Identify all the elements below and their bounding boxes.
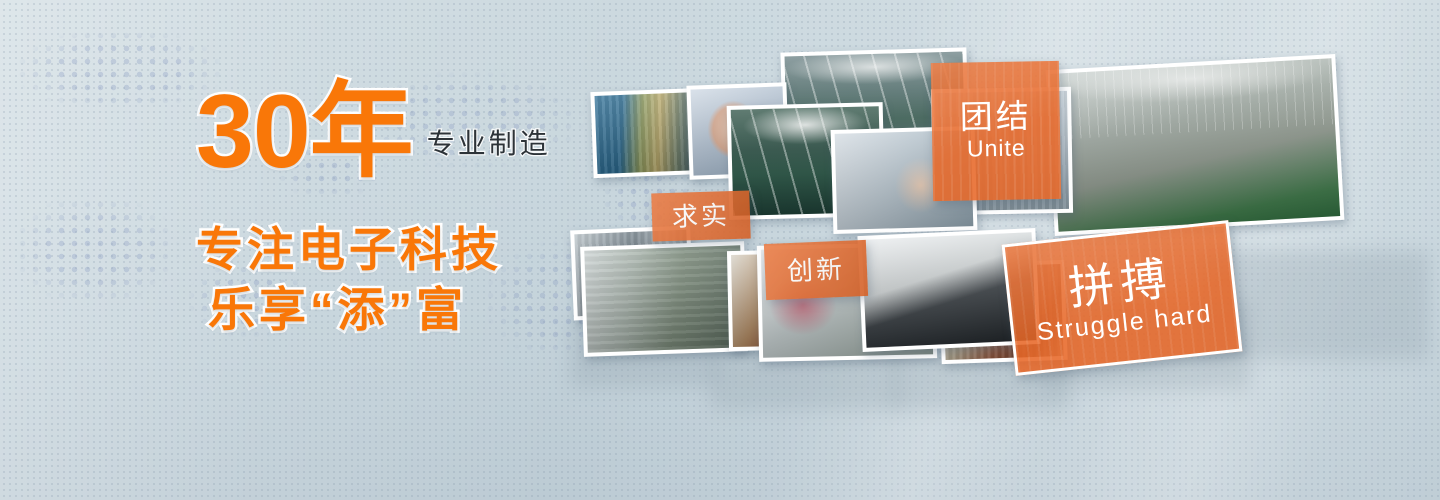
photo-reflow-oven-line [580, 241, 748, 357]
slogan-block: 专注电子科技 乐享“添”富 [196, 220, 616, 340]
photo-collage: 求实 创新 团结 Unite 拼搏 Struggle hard [560, 0, 1440, 500]
photo-smt-pick-and-place-line [1046, 54, 1345, 236]
slogan-line-1: 专注电子科技 [196, 220, 616, 280]
keyword-label-cn: 团结 [959, 98, 1032, 136]
keyword-label-cn: 创新 [786, 255, 845, 286]
keyword-panel-qiushi: 求实 [651, 190, 750, 241]
headline-top-line: 30年 专业制造 [196, 72, 616, 182]
keyword-panel-pinbo: 拼搏 Struggle hard [1002, 220, 1243, 376]
keyword-label-en: Unite [967, 135, 1026, 164]
years-heading: 30年 [196, 83, 413, 182]
subtitle-professional-manufacturing: 专业制造 [427, 130, 551, 182]
keyword-label-cn: 求实 [672, 201, 731, 231]
slogan-line-2: 乐享“添”富 [196, 280, 616, 340]
keyword-panel-chuangxin: 创新 [764, 240, 868, 300]
promo-banner: 30年 专业制造 专注电子科技 乐享“添”富 [0, 0, 1440, 500]
headline-block: 30年 专业制造 专注电子科技 乐享“添”富 [196, 72, 616, 340]
keyword-panel-tuanjie: 团结 Unite [931, 61, 1061, 201]
